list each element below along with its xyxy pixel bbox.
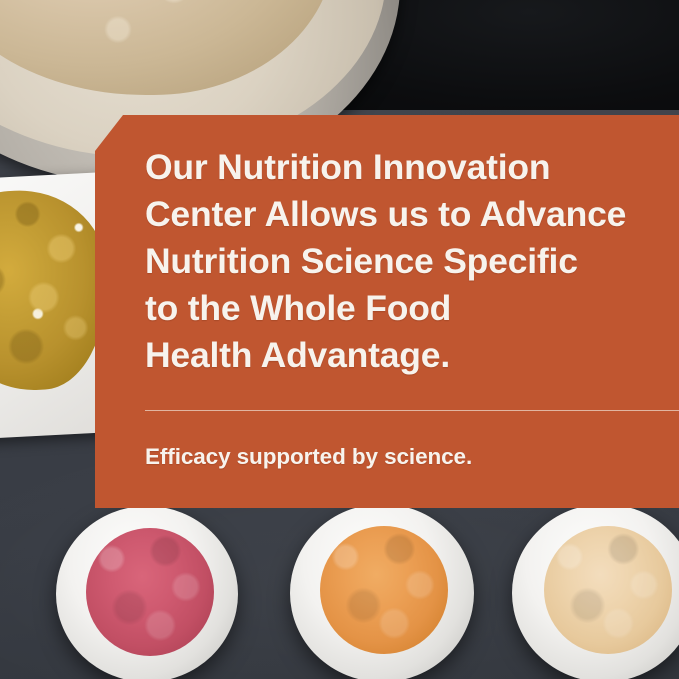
panel-subtitle: Efficacy supported by science. [145,442,472,472]
orange-message-panel: Our Nutrition Innovation Center Allows u… [95,115,679,508]
marketing-graphic: Our Nutrition Innovation Center Allows u… [0,0,679,679]
orange-powder [320,526,448,654]
panel-heading: Our Nutrition Innovation Center Allows u… [145,144,675,379]
bowl-pink-powder [56,506,238,679]
bowl-cream-powder [512,504,679,679]
bowl-orange-powder [290,504,474,679]
cream-powder [544,526,672,654]
panel-divider [145,410,679,411]
pink-powder [86,528,214,656]
tan-protein-powder [0,0,334,95]
